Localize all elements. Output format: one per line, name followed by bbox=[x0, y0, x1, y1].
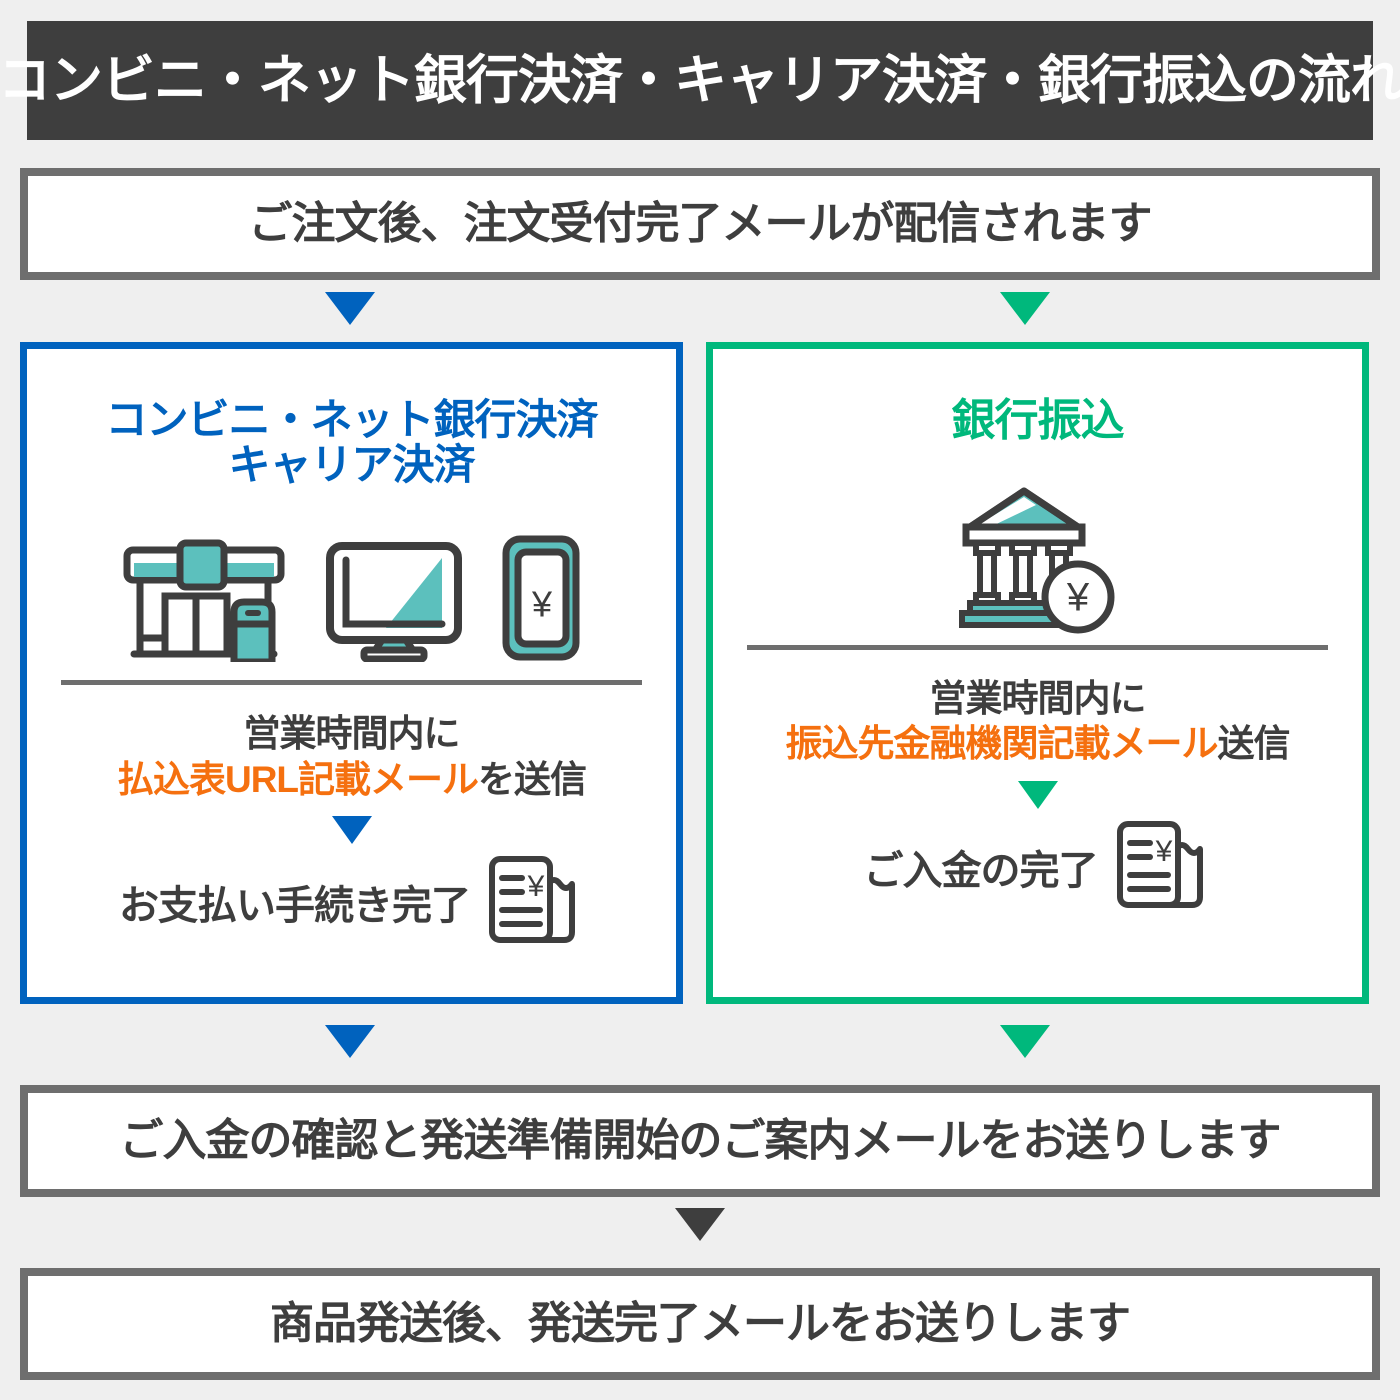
arrow-down-to-shipped-icon bbox=[675, 1208, 725, 1241]
arrow-down-to-bank-panel-icon bbox=[1000, 292, 1050, 325]
arrow-down-to-cvs-panel-icon bbox=[325, 292, 375, 325]
desktop-monitor-icon bbox=[324, 540, 464, 662]
panel-cvs-note-highlight: 払込表URL記載メール bbox=[117, 759, 478, 800]
bank-building-yen-icon: ¥ bbox=[952, 483, 1124, 635]
panel-bank-transfer: 銀行振込 bbox=[706, 342, 1369, 1004]
panel-convenience-store-payment: コンビニ・ネット銀行決済 キャリア決済 bbox=[20, 342, 683, 1004]
payment-flow-diagram: コンビニ・ネット銀行決済・キャリア決済・銀行振込の流れ ご注文後、注文受付完了メ… bbox=[0, 0, 1400, 1400]
arrow-down-bank-step-icon bbox=[1018, 781, 1058, 809]
convenience-store-icon bbox=[120, 534, 288, 662]
step-order-received-label: ご注文後、注文受付完了メールが配信されます bbox=[249, 202, 1152, 246]
panel-bank-final-label: ご入金の完了 bbox=[864, 838, 1098, 896]
receipt-yen-icon: ¥ bbox=[480, 850, 584, 954]
svg-text:¥: ¥ bbox=[1154, 835, 1172, 868]
diagram-title: コンビニ・ネット銀行決済・キャリア決済・銀行振込の流れ bbox=[0, 54, 1400, 107]
step-order-received-box: ご注文後、注文受付完了メールが配信されます bbox=[20, 168, 1380, 280]
svg-text:¥: ¥ bbox=[1065, 575, 1089, 619]
panel-cvs-heading: コンビニ・ネット銀行決済 キャリア決済 bbox=[105, 397, 597, 488]
panel-bank-note-highlight: 振込先金融機関記載メール bbox=[786, 723, 1218, 764]
svg-text:¥: ¥ bbox=[527, 870, 545, 903]
receipt-yen-icon: ¥ bbox=[1108, 815, 1212, 919]
panel-cvs-divider bbox=[61, 680, 642, 685]
diagram-title-bar: コンビニ・ネット銀行決済・キャリア決済・銀行振込の流れ bbox=[27, 21, 1373, 140]
arrow-down-from-bank-panel-icon bbox=[1000, 1025, 1050, 1058]
panel-bank-final-row: ご入金の完了 ¥ bbox=[864, 815, 1212, 919]
panel-cvs-note: 営業時間内に 払込表URL記載メールを送信 bbox=[117, 711, 586, 803]
step-shipped-label: 商品発送後、発送完了メールをお送りします bbox=[270, 1302, 1130, 1346]
panel-cvs-note-tail: を送信 bbox=[478, 759, 586, 800]
panel-bank-divider bbox=[747, 645, 1328, 650]
smartphone-yen-icon: ¥ bbox=[500, 534, 584, 662]
panel-bank-arrow-wrap bbox=[713, 781, 1362, 809]
panel-cvs-icon-row: ¥ bbox=[27, 512, 676, 662]
arrow-down-cvs-step-icon bbox=[332, 816, 372, 844]
panel-bank-heading: 銀行振込 bbox=[952, 397, 1124, 445]
panel-bank-note: 営業時間内に 振込先金融機関記載メール送信 bbox=[786, 676, 1290, 768]
step-payment-confirmed-label: ご入金の確認と発送準備開始のご案内メールをお送りします bbox=[120, 1119, 1281, 1163]
panel-cvs-arrow-wrap bbox=[27, 816, 676, 844]
panel-bank-note-line1: 営業時間内に bbox=[786, 676, 1290, 722]
panel-cvs-final-row: お支払い手続き完了 ¥ bbox=[119, 850, 584, 954]
svg-text:¥: ¥ bbox=[530, 583, 552, 624]
panel-cvs-final-label: お支払い手続き完了 bbox=[119, 873, 470, 931]
panel-bank-note-tail: 送信 bbox=[1218, 723, 1290, 764]
panel-bank-icon-row: ¥ bbox=[713, 483, 1362, 635]
arrow-down-from-cvs-panel-icon bbox=[325, 1025, 375, 1058]
step-payment-confirmed-box: ご入金の確認と発送準備開始のご案内メールをお送りします bbox=[20, 1085, 1380, 1197]
step-shipped-box: 商品発送後、発送完了メールをお送りします bbox=[20, 1268, 1380, 1380]
panel-cvs-note-line1: 営業時間内に bbox=[117, 711, 586, 757]
